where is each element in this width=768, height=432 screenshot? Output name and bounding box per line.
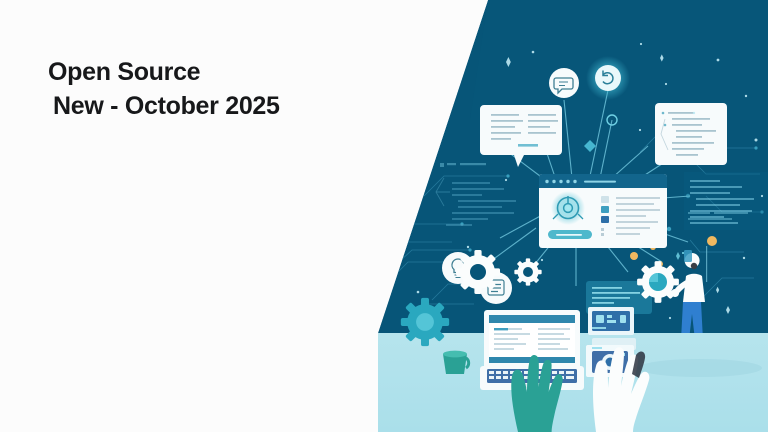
slide-root: Open Source New - October 2025: [0, 0, 768, 432]
gear-small-white: [514, 258, 541, 285]
browser-window: [539, 174, 667, 248]
page-title: Open Source: [48, 58, 378, 88]
code-text-right: [684, 172, 768, 230]
media-card: [588, 307, 634, 335]
title-block: Open Source New - October 2025: [48, 58, 378, 121]
sync-node-icon: [586, 56, 630, 100]
gear-person-white: [637, 261, 679, 303]
page-subtitle: New - October 2025: [48, 92, 378, 122]
gear-teal: [401, 298, 449, 346]
chat-node-icon: [549, 68, 579, 98]
gear-large-white: [456, 250, 500, 294]
document-panel-right: [655, 103, 727, 165]
